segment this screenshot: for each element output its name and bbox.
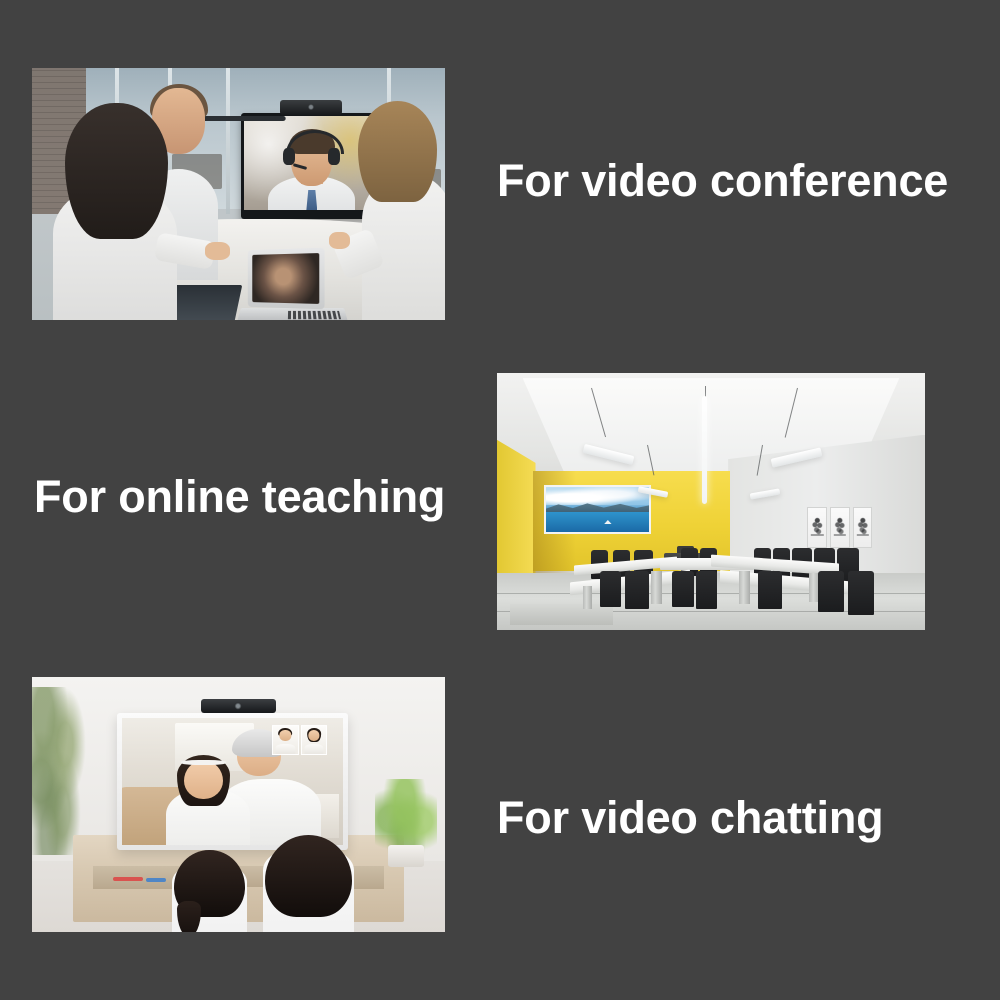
- shelf-item: [146, 878, 166, 881]
- wall-art-panel: [807, 507, 827, 548]
- classroom-chair: [758, 571, 782, 610]
- painting-sky: [546, 487, 649, 505]
- classroom-chair: [818, 571, 844, 612]
- person-foreground-hand: [205, 242, 230, 260]
- pip-window-female: [301, 725, 328, 754]
- camera-lens-icon: [308, 104, 314, 110]
- landscape-painting: [544, 485, 651, 534]
- laptop-base: [237, 309, 348, 320]
- person-right-hair: [358, 101, 436, 202]
- table-leg: [651, 571, 662, 604]
- caption-video-conference: For video conference: [497, 158, 948, 203]
- wall-art-panel: [853, 507, 873, 548]
- classroom-chair: [848, 571, 874, 615]
- potted-plant-right: [375, 779, 437, 866]
- classroom-chair: [696, 571, 717, 610]
- tree-sketch-icon: [834, 513, 846, 544]
- granddaughter-face: [184, 761, 224, 799]
- floor-platform: [510, 604, 613, 625]
- laptop: [239, 249, 346, 320]
- plant-pot: [388, 845, 424, 868]
- classroom-chair: [600, 571, 621, 607]
- laptop-screen: [252, 253, 319, 304]
- person-foreground-left-hair: [65, 103, 168, 239]
- image-video-conference: [32, 68, 445, 320]
- conference-camera: [280, 100, 342, 115]
- caption-video-chatting: For video chatting: [497, 795, 883, 840]
- window-mullion: [226, 68, 230, 214]
- potted-plant-left: [32, 687, 90, 855]
- person-right-hand: [329, 232, 350, 250]
- camera-lens-icon: [235, 702, 242, 709]
- image-video-chatting: [32, 677, 445, 932]
- tv-screen: [122, 718, 343, 846]
- classroom-chair: [672, 571, 693, 607]
- granddaughter-headband: [181, 760, 225, 765]
- caption-online-teaching: For online teaching: [34, 474, 445, 519]
- vertical-pendant-light: [702, 396, 707, 504]
- painting-lake: [546, 512, 649, 532]
- shelf-item: [113, 877, 143, 881]
- television: [117, 713, 348, 851]
- child-left-ponytail: [177, 901, 202, 932]
- tree-sketch-icon: [811, 513, 823, 544]
- monitor-soundbar: [201, 116, 286, 121]
- laptop-keyboard: [288, 311, 341, 319]
- slide-canvas: For video conference: [0, 0, 1000, 1000]
- image-online-teaching: [497, 373, 925, 630]
- tree-sketch-icon: [856, 513, 868, 544]
- conference-camera: [201, 699, 275, 713]
- laptop-lid: [248, 248, 325, 310]
- headset-earcup: [328, 148, 340, 165]
- pip-body: [276, 744, 295, 754]
- table-leg: [739, 571, 750, 604]
- table-leg: [583, 586, 592, 609]
- pip-body: [305, 744, 324, 754]
- classroom-chair: [625, 571, 649, 610]
- pip-window-male: [272, 725, 299, 754]
- child-right-hair: [265, 835, 352, 917]
- pip-face: [280, 730, 291, 741]
- wall-art-panel: [830, 507, 850, 548]
